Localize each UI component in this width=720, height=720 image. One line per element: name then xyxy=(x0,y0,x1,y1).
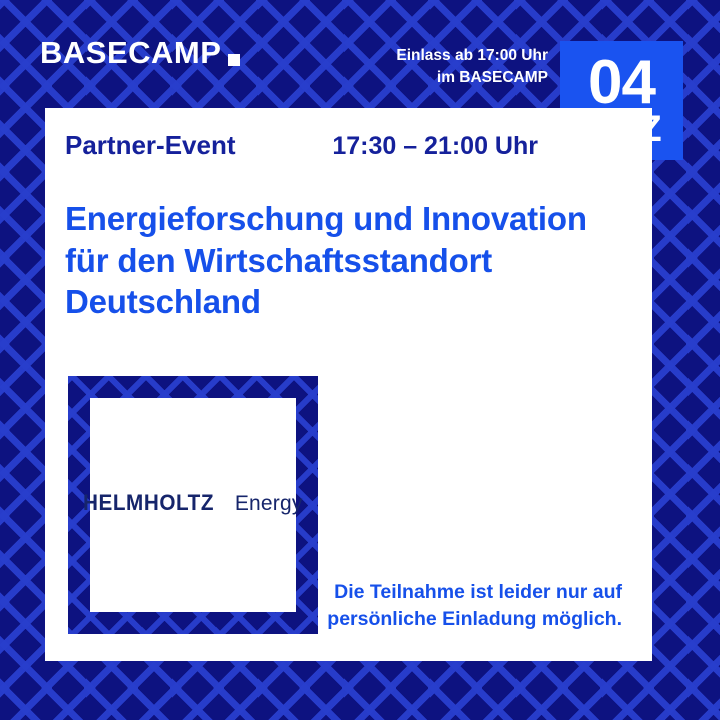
headline-line-3: Deutschland xyxy=(65,281,616,323)
entry-note-line1: Einlass ab 17:00 Uhr xyxy=(396,45,548,67)
helmholtz-subbrand: Energy xyxy=(235,492,303,516)
basecamp-logo[interactable]: BASECAMP xyxy=(40,37,240,68)
square-dot-icon xyxy=(228,54,240,66)
event-time-range: 17:30 – 21:00 Uhr xyxy=(332,132,538,161)
partner-logo-plate: HELMHOLTZ Energy xyxy=(90,398,296,612)
invitation-note-line2: persönliche Einladung möglich. xyxy=(292,606,622,633)
event-headline: Energieforschung und Innovation für den … xyxy=(65,198,616,323)
date-day: 04 xyxy=(588,54,655,111)
content-card: Partner-Event 17:30 – 21:00 Uhr Energief… xyxy=(45,108,652,661)
partner-logo-frame: HELMHOLTZ Energy xyxy=(68,376,318,634)
entry-note-line2: im BASECAMP xyxy=(396,67,548,89)
helmholtz-wordmark: HELMHOLTZ xyxy=(83,490,214,516)
invitation-note-line1: Die Teilnahme ist leider nur auf xyxy=(292,579,622,606)
headline-line-1: Energieforschung und Innovation xyxy=(65,198,616,240)
event-poster: BASECAMP Einlass ab 17:00 Uhr im BASECAM… xyxy=(0,0,720,720)
card-header-row: Partner-Event 17:30 – 21:00 Uhr xyxy=(65,130,538,161)
headline-line-2: für den Wirtschaftsstandort xyxy=(65,240,616,282)
invitation-note: Die Teilnahme ist leider nur auf persönl… xyxy=(292,579,622,633)
helmholtz-energy-logo: HELMHOLTZ Energy xyxy=(83,490,302,516)
brand-wordmark: BASECAMP xyxy=(40,37,221,68)
event-type-label: Partner-Event xyxy=(65,130,236,161)
entry-note: Einlass ab 17:00 Uhr im BASECAMP xyxy=(396,45,548,90)
